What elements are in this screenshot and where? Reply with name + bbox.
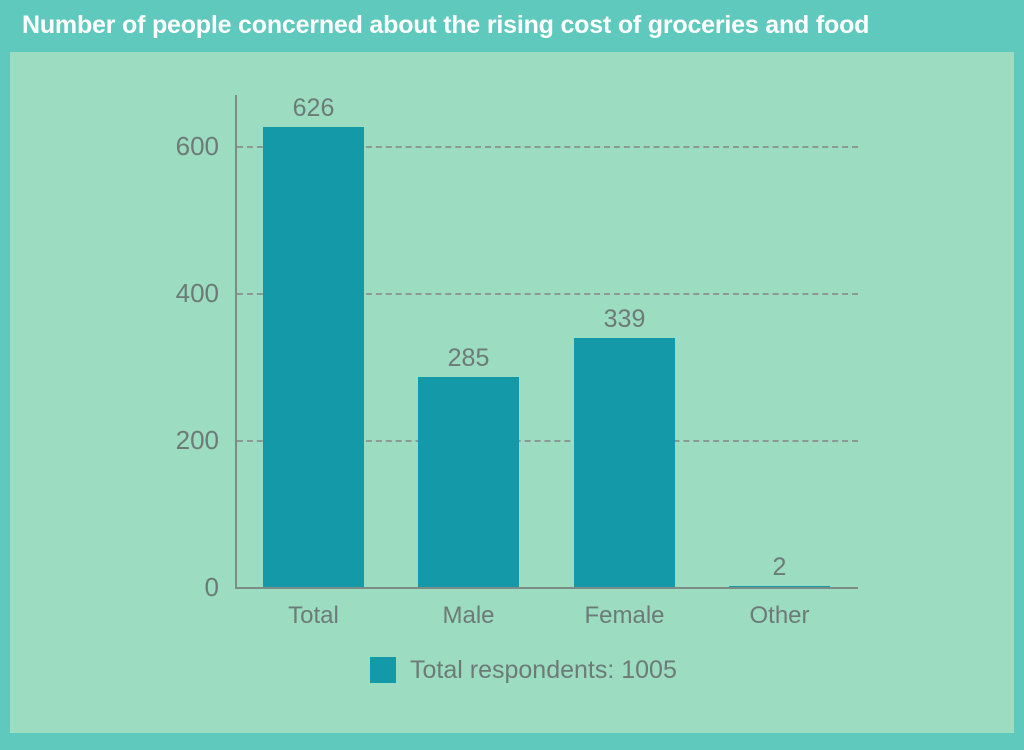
plot-area: 600 400 200 0 626 285 339 2 Total Male F… bbox=[10, 52, 1014, 733]
bar-value-male: 285 bbox=[418, 346, 519, 371]
chart-figure: Number of people concerned about the ris… bbox=[0, 0, 1024, 750]
chart-panel: 600 400 200 0 626 285 339 2 Total Male F… bbox=[10, 52, 1014, 733]
chart-legend: Total respondents: 1005 bbox=[370, 657, 677, 683]
bar-value-total: 626 bbox=[263, 96, 364, 121]
title-bar: Number of people concerned about the ris… bbox=[0, 0, 1024, 52]
y-tick-label-600: 600 bbox=[176, 133, 219, 159]
legend-swatch-total-respondents bbox=[370, 657, 396, 683]
x-tick-label-female: Female bbox=[564, 604, 685, 628]
bar-male[interactable] bbox=[418, 377, 519, 587]
y-axis-line bbox=[235, 95, 237, 588]
chart-title: Number of people concerned about the ris… bbox=[22, 11, 869, 40]
x-axis-line bbox=[235, 587, 858, 589]
x-tick-label-other: Other bbox=[719, 604, 840, 628]
bar-female[interactable] bbox=[574, 338, 675, 587]
y-tick-label-200: 200 bbox=[176, 427, 219, 453]
bar-other[interactable] bbox=[729, 586, 830, 587]
y-tick-label-400: 400 bbox=[176, 280, 219, 306]
y-tick-label-0: 0 bbox=[205, 574, 219, 600]
legend-label-total-respondents: Total respondents: 1005 bbox=[410, 658, 677, 683]
bar-total[interactable] bbox=[263, 127, 364, 587]
bar-value-other: 2 bbox=[729, 555, 830, 580]
bar-value-female: 339 bbox=[574, 307, 675, 332]
x-tick-label-male: Male bbox=[408, 604, 529, 628]
x-tick-label-total: Total bbox=[253, 604, 374, 628]
